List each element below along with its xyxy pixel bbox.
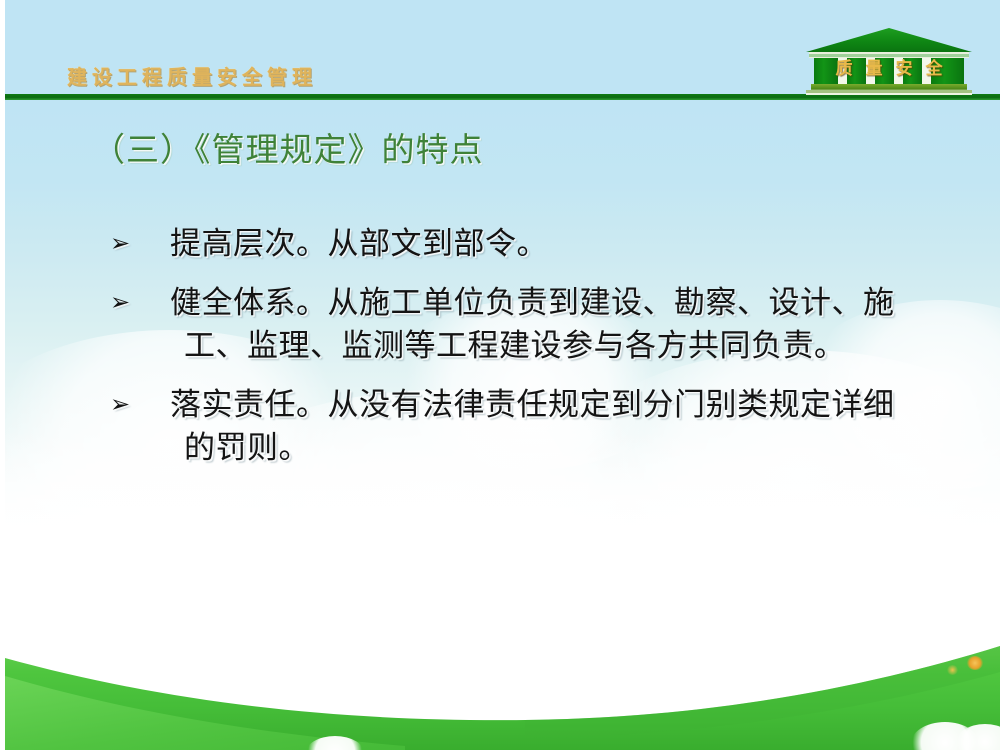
slide-body: ➢ 提高层次。从部文到部令。 ➢ 健全体系。从施工单位负责到建设、勘察、设计、施… [110,222,910,469]
grass-hill-decoration [5,610,1000,750]
slide-title: （三）《管理规定》的特点 [92,123,484,171]
grass-hill-icon [5,610,1000,750]
bullet-item: ➢ 健全体系。从施工单位负责到建设、勘察、设计、施工、监理、监测等工程建设参与各… [110,281,910,367]
bullet-text: 健全体系。从施工单位负责到建设、勘察、设计、施工、监理、监测等工程建设参与各方共… [184,281,910,367]
presentation-slide: 建设工程质量安全管理 [0,0,1000,750]
flower-decoration [947,665,958,675]
header-title: 建设工程质量安全管理 [67,61,317,90]
bullet-text: 落实责任。从没有法律责任规定到分门别类规定详细的罚则。 [184,383,910,469]
bullet-text: 提高层次。从部文到部令。 [184,222,910,265]
bullet-item: ➢ 提高层次。从部文到部令。 [110,222,910,265]
temple-icon [800,26,978,99]
quality-safety-temple-logo: 质量安全 [800,26,978,99]
flower-decoration [967,656,983,670]
bullet-item: ➢ 落实责任。从没有法律责任规定到分门别类规定详细的罚则。 [110,383,910,469]
